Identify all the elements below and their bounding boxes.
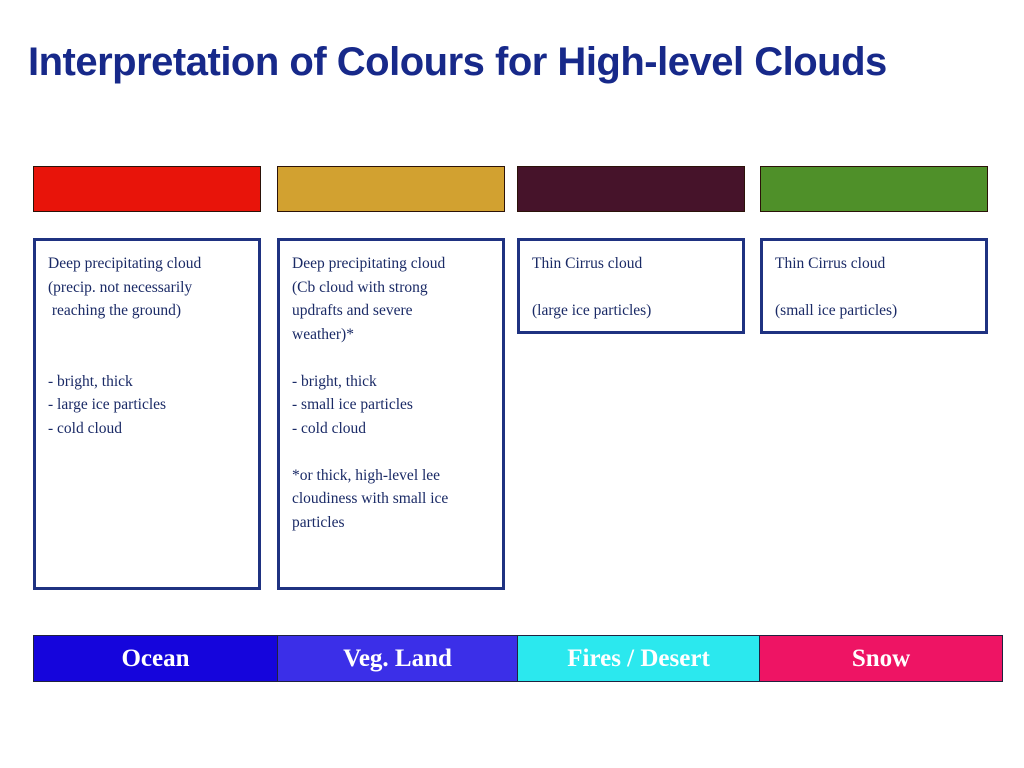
legend-item-veg-land[interactable]: Veg. Land xyxy=(278,636,518,681)
description-line: - cold cloud xyxy=(48,417,248,441)
description-line xyxy=(48,346,248,370)
maroon-swatch xyxy=(517,166,745,212)
description-line: Thin Cirrus cloud xyxy=(775,252,975,276)
legend-item-fires-desert[interactable]: Fires / Desert xyxy=(518,636,760,681)
description-line: *or thick, high-level lee xyxy=(292,464,492,488)
red-swatch xyxy=(33,166,261,212)
green-swatch xyxy=(760,166,988,212)
description-line: - bright, thick xyxy=(48,370,248,394)
description-line: (precip. not necessarily xyxy=(48,276,248,300)
description-box-green: Thin Cirrus cloud(small ice particles) xyxy=(760,238,988,334)
description-line: - cold cloud xyxy=(292,417,492,441)
gold-swatch xyxy=(277,166,505,212)
legend-item-snow[interactable]: Snow xyxy=(760,636,1002,681)
description-line xyxy=(775,276,975,300)
colour-swatch-row xyxy=(33,166,988,212)
description-line xyxy=(292,440,492,464)
description-line: updrafts and severe xyxy=(292,299,492,323)
description-line: weather)* xyxy=(292,323,492,347)
description-line: (Cb cloud with strong xyxy=(292,276,492,300)
description-line: particles xyxy=(292,511,492,535)
page-title: Interpretation of Colours for High-level… xyxy=(28,36,996,88)
surface-type-legend: Ocean Veg. Land Fires / Desert Snow xyxy=(33,635,1003,682)
description-box-red: Deep precipitating cloud(precip. not nec… xyxy=(33,238,261,590)
description-line: Thin Cirrus cloud xyxy=(532,252,732,276)
description-line: - large ice particles xyxy=(48,393,248,417)
description-line: (large ice particles) xyxy=(532,299,732,323)
description-line: (small ice particles) xyxy=(775,299,975,323)
description-line: Deep precipitating cloud xyxy=(48,252,248,276)
description-line: - bright, thick xyxy=(292,370,492,394)
description-line xyxy=(48,323,248,347)
description-box-gold: Deep precipitating cloud(Cb cloud with s… xyxy=(277,238,505,590)
legend-item-ocean[interactable]: Ocean xyxy=(34,636,278,681)
description-box-maroon: Thin Cirrus cloud(large ice particles) xyxy=(517,238,745,334)
description-box-row: Deep precipitating cloud(precip. not nec… xyxy=(33,238,988,590)
description-line: - small ice particles xyxy=(292,393,492,417)
description-line: reaching the ground) xyxy=(48,299,248,323)
description-line xyxy=(292,346,492,370)
description-line: cloudiness with small ice xyxy=(292,487,492,511)
description-line xyxy=(532,276,732,300)
description-line: Deep precipitating cloud xyxy=(292,252,492,276)
